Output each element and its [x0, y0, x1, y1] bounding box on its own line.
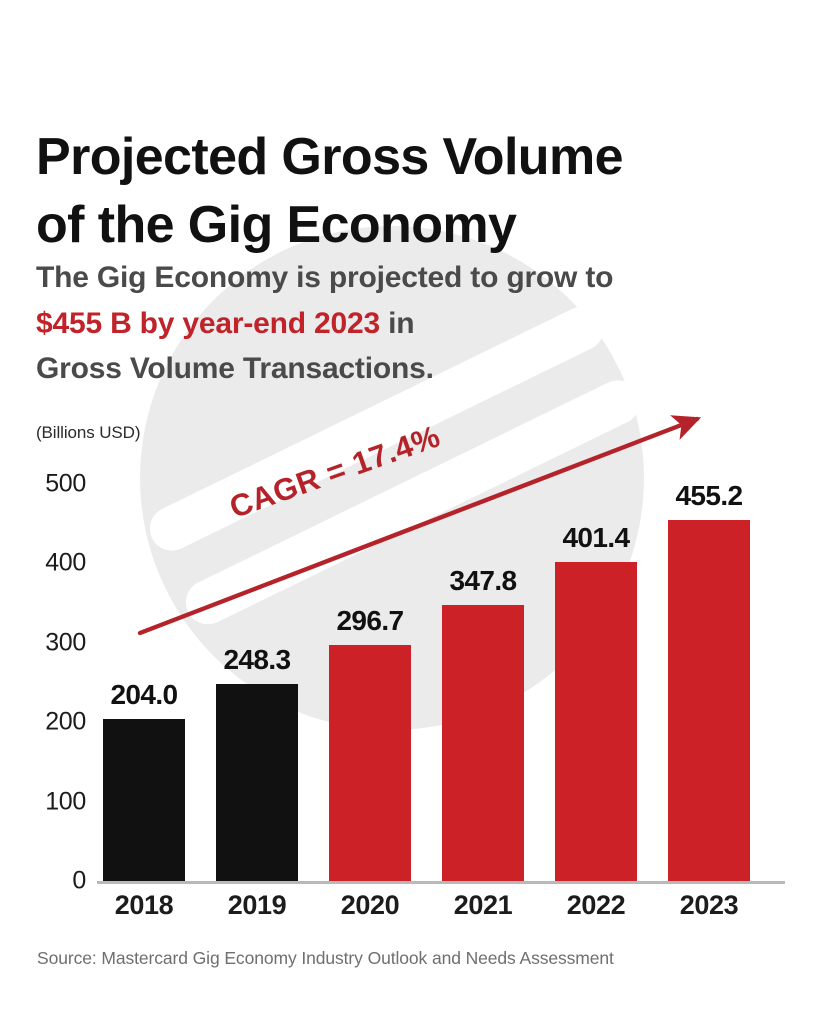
- bar-2020[interactable]: [329, 645, 411, 881]
- cagr-annotation-label: CAGR = 17.4%: [225, 418, 445, 526]
- bar-2018[interactable]: [103, 719, 185, 881]
- x-axis-tick-2022: 2022: [539, 890, 653, 921]
- bar-2021[interactable]: [442, 605, 524, 881]
- bar-chart: 0100200300400500 204.0248.3296.7347.8401…: [0, 0, 829, 1024]
- x-axis-line: [97, 881, 785, 884]
- y-axis-ticks: 0100200300400500: [22, 0, 86, 1024]
- x-axis-tick-2020: 2020: [313, 890, 427, 921]
- bar-value-label-2019: 248.3: [194, 644, 320, 676]
- x-axis-tick-2019: 2019: [200, 890, 314, 921]
- bar-value-label-2022: 401.4: [533, 522, 659, 554]
- y-axis-tick-400: 400: [22, 549, 86, 578]
- y-axis-tick-100: 100: [22, 787, 86, 816]
- source-note: Source: Mastercard Gig Economy Industry …: [37, 948, 614, 969]
- x-axis-tick-2021: 2021: [426, 890, 540, 921]
- bar-2022[interactable]: [555, 562, 637, 881]
- bar-value-label-2018: 204.0: [81, 679, 207, 711]
- bar-2023[interactable]: [668, 520, 750, 881]
- infographic-page: Projected Gross Volume of the Gig Econom…: [0, 0, 829, 1024]
- x-axis-tick-2023: 2023: [652, 890, 766, 921]
- y-axis-tick-500: 500: [22, 470, 86, 499]
- bar-value-label-2021: 347.8: [420, 565, 546, 597]
- y-axis-tick-0: 0: [22, 867, 86, 896]
- bar-2019[interactable]: [216, 684, 298, 881]
- x-axis-tick-2018: 2018: [87, 890, 201, 921]
- bar-value-label-2023: 455.2: [646, 480, 772, 512]
- y-axis-tick-200: 200: [22, 708, 86, 737]
- bar-value-label-2020: 296.7: [307, 605, 433, 637]
- y-axis-tick-300: 300: [22, 628, 86, 657]
